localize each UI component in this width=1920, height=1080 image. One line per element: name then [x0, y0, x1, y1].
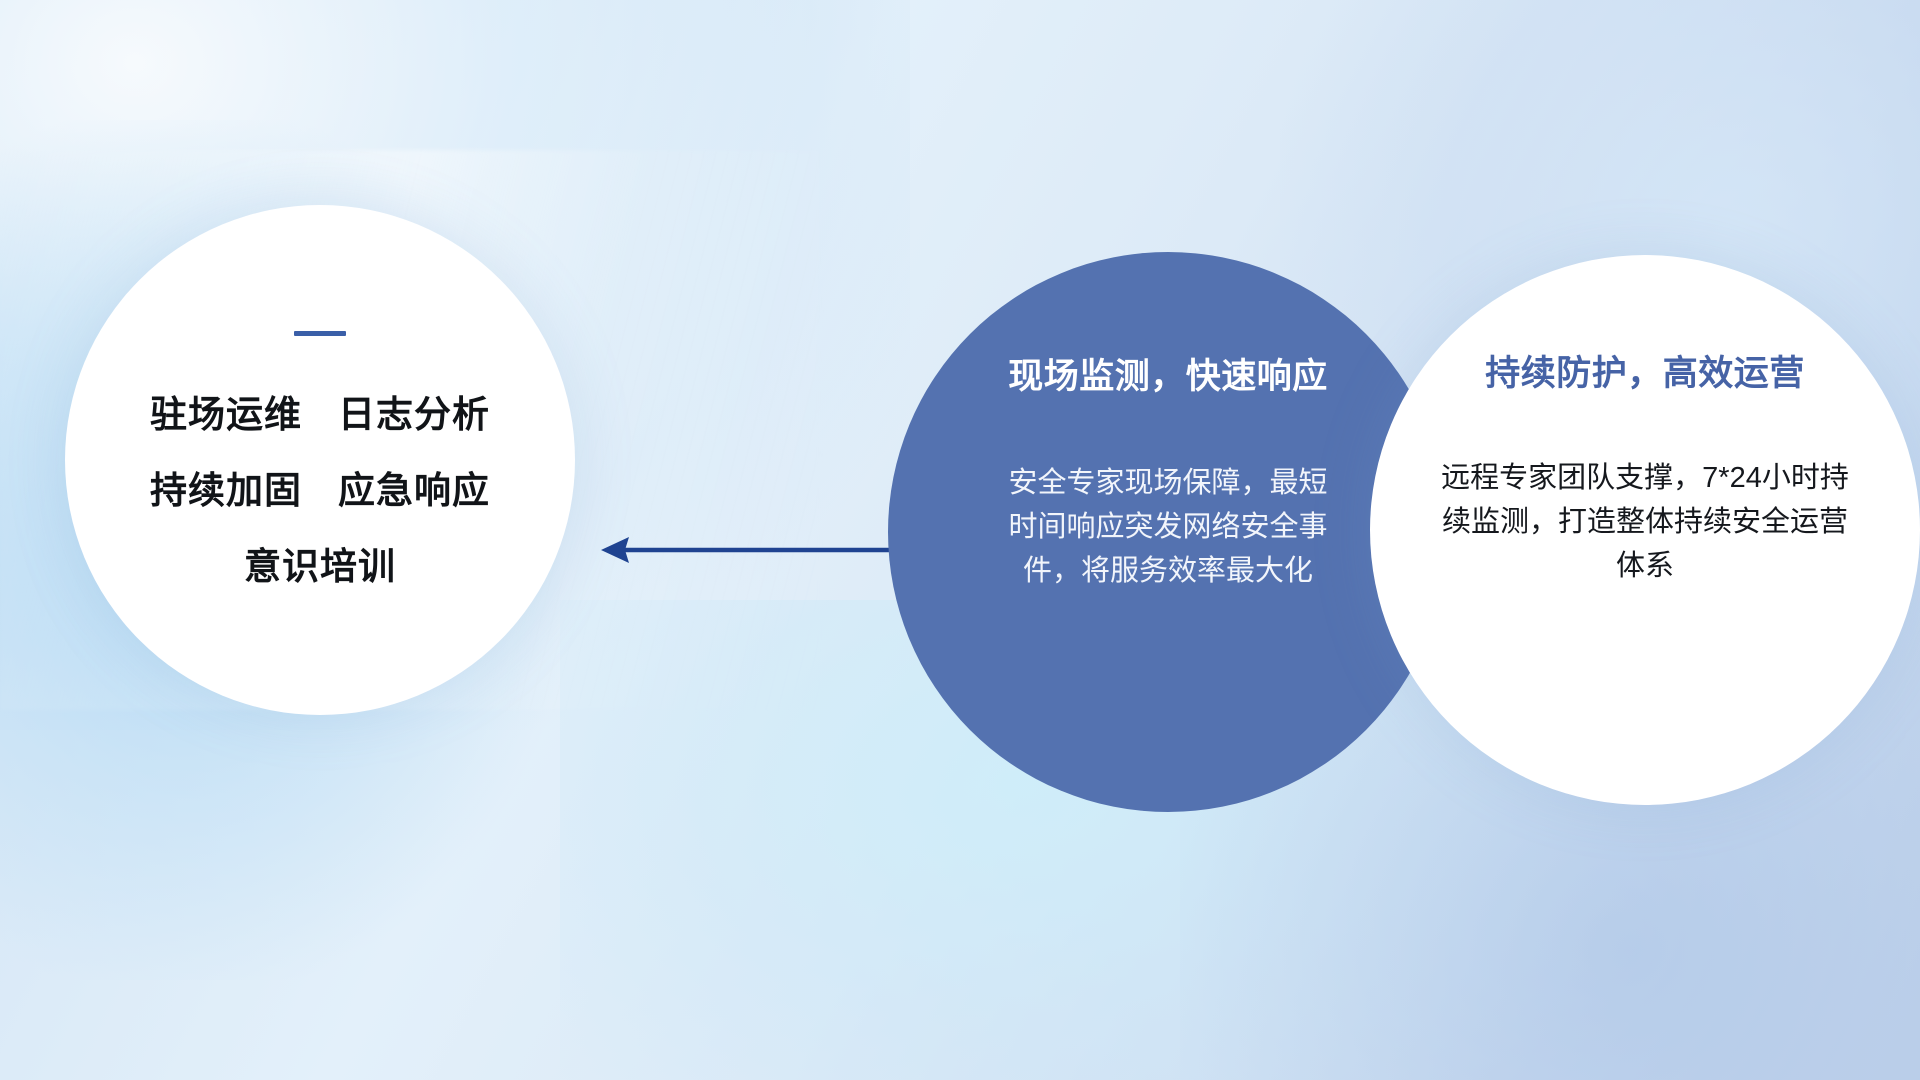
node-continuous-title: 持续防护，高效运营 — [1485, 345, 1805, 396]
node-capabilities[interactable]: 驻场运维 日志分析 持续加固 应急响应 意识培训 — [65, 205, 575, 715]
node-onsite-body: 安全专家现场保障，最短时间响应突发网络安全事件，将服务效率最大化 — [1003, 461, 1333, 593]
horizontal-dash-icon — [294, 331, 346, 336]
capability-keyword: 日志分析 — [338, 384, 490, 438]
arrow-left-icon — [595, 520, 905, 580]
node-continuous-body: 远程专家团队支撑，7*24小时持续监测，打造整体持续安全运营体系 — [1435, 456, 1855, 588]
capability-keyword: 应急响应 — [338, 460, 490, 514]
node-continuous[interactable]: 持续防护，高效运营 远程专家团队支撑，7*24小时持续监测，打造整体持续安全运营… — [1370, 255, 1920, 805]
node-onsite-title: 现场监测，快速响应 — [1008, 348, 1328, 399]
capability-keyword: 意识培训 — [244, 536, 396, 590]
capability-row: 持续加固 应急响应 — [150, 460, 490, 514]
capability-row: 意识培训 — [244, 536, 396, 590]
capability-keyword-list: 驻场运维 日志分析 持续加固 应急响应 意识培训 — [150, 384, 490, 590]
capability-row: 驻场运维 日志分析 — [150, 384, 490, 438]
capability-keyword: 驻场运维 — [150, 384, 302, 438]
capability-keyword: 持续加固 — [150, 460, 302, 514]
node-onsite[interactable]: 现场监测，快速响应 安全专家现场保障，最短时间响应突发网络安全事件，将服务效率最… — [888, 252, 1448, 812]
